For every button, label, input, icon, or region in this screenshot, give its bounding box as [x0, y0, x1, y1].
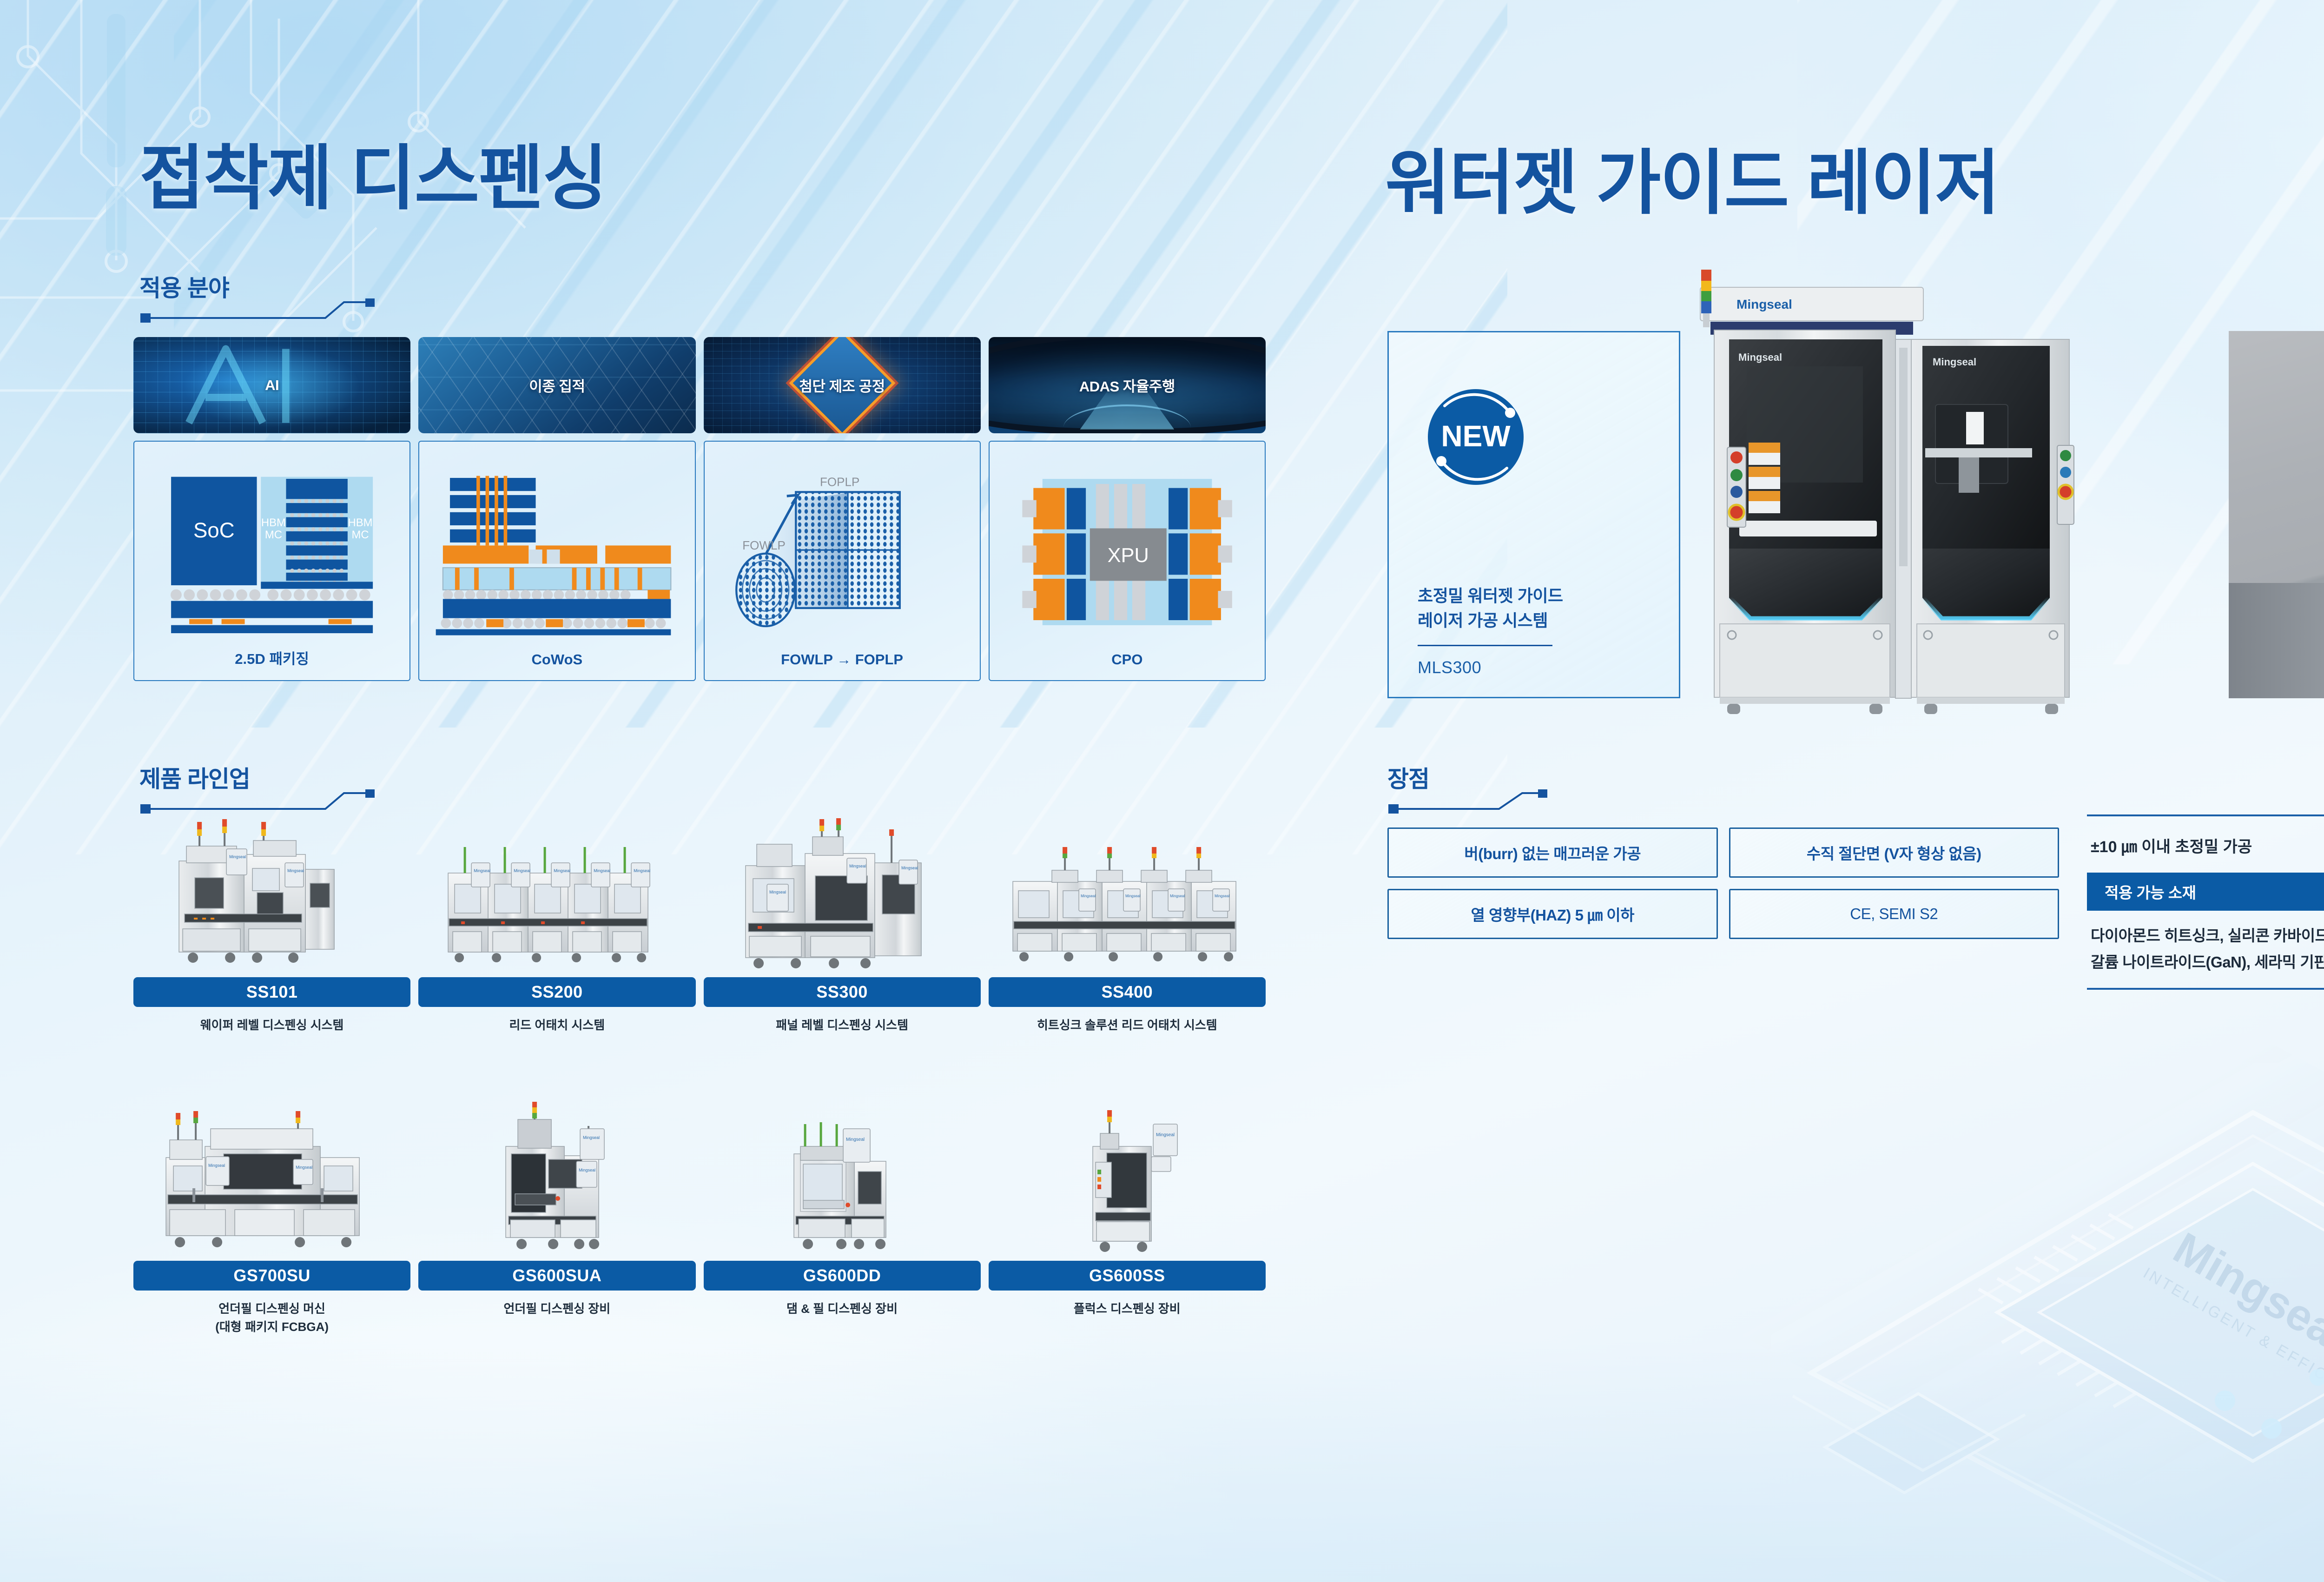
product-model-badge[interactable]: SS300: [704, 977, 981, 1007]
application-card[interactable]: 첨단 제조 공정 FOPLP: [704, 337, 981, 681]
application-photo-label: 첨단 제조 공정: [799, 375, 885, 396]
diagram-label-soc: SoC: [193, 518, 235, 542]
application-photo-ai: AI: [133, 337, 410, 433]
new-badge: NEW: [1418, 379, 1534, 495]
product-description: 웨이퍼 레벨 디스펜싱 시스템: [200, 1016, 344, 1034]
subheader-product-lineup: 제품 라인업: [139, 761, 250, 794]
svg-text:Mingseal: Mingseal: [514, 868, 530, 873]
svg-text:Mingseal: Mingseal: [579, 1168, 595, 1172]
new-badge-label: NEW: [1441, 419, 1511, 453]
product-description-line1: 언더필 디스펜싱 머신: [215, 1300, 329, 1318]
svg-text:Mingseal: Mingseal: [296, 1165, 312, 1170]
spec-materials-line2: 갈륨 나이트라이드(GaN), 세라믹 기판, 액체 금속 등: [2091, 949, 2324, 976]
machine-illustration: MingsealMingseal: [133, 1102, 410, 1255]
section-title-adhesive-dispensing: 접착제 디스펜싱: [139, 121, 607, 223]
application-photo-label: AI: [265, 377, 279, 394]
subheader-application-field: 적용 분야: [139, 270, 229, 303]
product-lineup-row-1: MingsealMingseal SS101 웨이퍼 레벨 디스펜싱 시스템: [133, 818, 1266, 1060]
diagram-label-foplp: FOPLP: [820, 475, 859, 489]
svg-text:Mingseal: Mingseal: [846, 1137, 865, 1142]
diagram-label-fowlp: FOWLP: [742, 538, 786, 552]
diagram-label-xpu: XPU: [1107, 544, 1149, 567]
machine-illustration: MingsealMingsealMingsealMingseal: [989, 818, 1266, 972]
product-description: 플럭스 디스펜싱 장비: [1074, 1300, 1181, 1318]
application-photo-label: 이종 집적: [529, 375, 585, 396]
product-model-badge[interactable]: SS101: [133, 977, 410, 1007]
svg-text:Mingseal: Mingseal: [208, 1163, 225, 1168]
machine-illustration: Mingseal: [989, 1102, 1266, 1255]
svg-text:Mingseal: Mingseal: [849, 864, 866, 868]
merit-box-certification: CE, SEMI S2: [1729, 889, 2060, 939]
product-photo-ss101: MingsealMingseal: [133, 818, 410, 972]
subheader-trace-decoration: [1387, 786, 1629, 814]
product-card[interactable]: MingsealMingsealMingseal MingsealMingsea…: [418, 818, 695, 1060]
application-photo-hetero-integration: 이종 집적: [418, 337, 695, 433]
svg-text:Mingseal: Mingseal: [1170, 894, 1185, 898]
product-lineup-row-2: MingsealMingseal GS700SU 언더필 디스펜싱 머신 (대형…: [133, 1102, 1266, 1344]
diagram-soc-hbm-stack: SoC: [141, 453, 403, 647]
diagram-label-hbm-right-line2: MC: [351, 529, 369, 541]
svg-text:Mingseal: Mingseal: [594, 868, 610, 873]
svg-text:Mingseal: Mingseal: [1215, 894, 1229, 898]
diagram-wafer-to-panel: FOPLP FOWLP: [711, 453, 973, 651]
machine-brand-label-inner-right: Mingseal: [1933, 356, 1976, 368]
new-product-panel: NEW 초정밀 워터젯 가이드 레이저 가공 시스템 MLS300: [1387, 331, 1680, 698]
spec-precision-text: ±10 ㎛ 이내 초정밀 가공: [2087, 816, 2324, 873]
application-diagram-cowos: CoWoS: [418, 441, 695, 681]
application-diagram-cpo: XPU CPO: [989, 441, 1266, 681]
product-photo-ss300: MingsealMingsealMingseal: [704, 818, 981, 972]
product-photo-gs600dd: Mingseal: [704, 1102, 981, 1255]
subheader-trace-decoration: [139, 786, 381, 814]
machine-brand-label-inner: Mingseal: [1738, 351, 1782, 363]
laser-principle-diagram-panel: 레이저 빔 초점 렌즈 보호 유리 물 노즐 가공물 에너지 결합 빔: [2229, 331, 2324, 698]
diagram-cowos-stack: [426, 453, 688, 651]
product-card[interactable]: Mingseal GS600DD 댐 & 필 디스펜싱 장비: [704, 1102, 981, 1344]
application-field-card-grid: AI SoC: [133, 337, 1266, 681]
new-product-title-line2: 레이저 가공 시스템: [1418, 608, 1563, 633]
application-card[interactable]: 이종 집적: [418, 337, 695, 681]
product-model-badge[interactable]: GS600SS: [989, 1261, 1266, 1291]
new-product-title: 초정밀 워터젯 가이드 레이저 가공 시스템: [1418, 583, 1563, 633]
spec-divider-bottom: [2087, 988, 2324, 990]
svg-text:Mingseal: Mingseal: [1156, 1132, 1175, 1138]
merit-box-vertical-cut: 수직 절단면 (V자 형상 없음): [1729, 827, 2060, 878]
product-model-badge[interactable]: GS600SUA: [418, 1261, 695, 1291]
product-card[interactable]: MingsealMingsealMingseal SS300 패널 레벨 디스펜…: [704, 818, 981, 1060]
svg-text:Mingseal: Mingseal: [634, 868, 650, 873]
product-description-line2: (대형 패키지 FCBGA): [215, 1318, 329, 1336]
machine-illustration-mls300: Mingseal Mingseal MLS-300: [1641, 270, 2133, 716]
product-description: 히트싱크 솔루션 리드 어태치 시스템: [1037, 1016, 1217, 1034]
machine-illustration: MingsealMingsealMingseal: [704, 818, 981, 972]
product-description: 패널 레벨 디스펜싱 시스템: [776, 1016, 908, 1034]
specification-panel: ±10 ㎛ 이내 초정밀 가공 적용 가능 소재 다이아몬드 히트싱크, 실리콘…: [2087, 814, 2324, 990]
application-photo-advanced-process: 첨단 제조 공정: [704, 337, 981, 433]
product-card[interactable]: Mingseal GS600SS 플럭스 디스펜싱 장비: [989, 1102, 1266, 1344]
machine-illustration: MingsealMingsealMingseal MingsealMingsea…: [418, 818, 695, 972]
subheader-trace-decoration: [139, 295, 381, 324]
product-description: 리드 어태치 시스템: [509, 1016, 605, 1034]
machine-brand-label: Mingseal: [1736, 297, 1792, 311]
divider-rule: [1418, 645, 1552, 646]
application-card[interactable]: AI SoC: [133, 337, 410, 681]
diagram-label-hbm-left-line2: MC: [265, 529, 282, 541]
mls300-machine-photo: Mingseal Mingseal MLS-300: [1641, 270, 2133, 716]
diagram-label-hbm-left-line1: HBM: [261, 516, 286, 529]
product-model-badge[interactable]: SS400: [989, 977, 1266, 1007]
diagram-cpo-xpu: XPU: [996, 453, 1258, 651]
machine-illustration: Mingseal: [704, 1102, 981, 1255]
application-diagram-caption: CoWoS: [532, 651, 583, 680]
svg-text:Mingseal: Mingseal: [583, 1135, 600, 1140]
product-photo-gs600ss: Mingseal: [989, 1102, 1266, 1255]
product-card[interactable]: MingsealMingseal GS700SU 언더필 디스펜싱 머신 (대형…: [133, 1102, 410, 1344]
merit-box-haz: 열 영향부(HAZ) 5 ㎛ 이하: [1387, 889, 1718, 939]
application-diagram-2-5d: SoC: [133, 441, 410, 681]
section-title-waterjet-guided-laser: 워터젯 가이드 레이저: [1385, 126, 1999, 228]
svg-text:Mingseal: Mingseal: [1081, 894, 1096, 898]
product-model-badge[interactable]: SS200: [418, 977, 695, 1007]
product-model-badge[interactable]: GS700SU: [133, 1261, 410, 1291]
application-photo-adas: ADAS 자율주행: [989, 337, 1266, 433]
product-description: 언더필 디스펜싱 머신 (대형 패키지 FCBGA): [215, 1300, 329, 1336]
svg-text:Mingseal: Mingseal: [554, 868, 570, 873]
laser-principle-diagram: 레이저 빔 초점 렌즈 보호 유리 물 노즐 가공물 에너지 결합 빔: [2229, 331, 2324, 698]
svg-text:Mingseal: Mingseal: [769, 890, 786, 894]
svg-text:Mingseal: Mingseal: [287, 868, 304, 873]
application-photo-label: ADAS 자율주행: [1079, 375, 1175, 396]
product-model-badge[interactable]: GS600DD: [704, 1261, 981, 1291]
application-diagram-fowlp-foplp: FOPLP FOWLP F: [704, 441, 981, 681]
application-diagram-caption: CPO: [1111, 651, 1142, 680]
product-photo-ss200: MingsealMingsealMingseal MingsealMingsea…: [418, 818, 695, 972]
product-description: 언더필 디스펜싱 장비: [504, 1300, 611, 1318]
product-card[interactable]: MingsealMingseal GS600SUA 언더필 디스펜싱 장비: [418, 1102, 695, 1344]
merit-box-burr-free: 버(burr) 없는 매끄러운 가공: [1387, 827, 1718, 878]
application-diagram-caption: FOWLP → FOPLP: [781, 651, 903, 680]
product-card[interactable]: MingsealMingsealMingsealMingseal SS400 히…: [989, 818, 1266, 1060]
new-product-model: MLS300: [1418, 658, 1481, 677]
machine-illustration: MingsealMingseal: [133, 818, 410, 972]
product-photo-ss400: MingsealMingsealMingsealMingseal: [989, 818, 1266, 972]
new-product-title-line1: 초정밀 워터젯 가이드: [1418, 583, 1563, 608]
spec-materials-line1: 다이아몬드 히트싱크, 실리콘 카바이드(SiC),: [2091, 923, 2324, 949]
product-photo-gs700su: MingsealMingseal: [133, 1102, 410, 1255]
machine-illustration: MingsealMingseal: [418, 1102, 695, 1255]
product-card[interactable]: MingsealMingseal SS101 웨이퍼 레벨 디스펜싱 시스템: [133, 818, 410, 1060]
svg-text:Mingseal: Mingseal: [901, 866, 918, 870]
spec-materials-body: 다이아몬드 히트싱크, 실리콘 카바이드(SiC), 갈륨 나이트라이드(GaN…: [2087, 911, 2324, 988]
svg-text:Mingseal: Mingseal: [474, 868, 490, 873]
svg-text:Mingseal: Mingseal: [1125, 894, 1140, 898]
subheader-merits: 장점: [1387, 761, 1429, 794]
application-diagram-caption: 2.5D 패키징: [235, 647, 309, 680]
diagram-label-hbm-right-line1: HBM: [348, 516, 373, 529]
spec-materials-header: 적용 가능 소재: [2087, 873, 2324, 911]
merit-box-grid: 버(burr) 없는 매끄러운 가공 수직 절단면 (V자 형상 없음) 열 영…: [1387, 827, 2059, 939]
product-photo-gs600sua: MingsealMingseal: [418, 1102, 695, 1255]
application-card[interactable]: ADAS 자율주행: [989, 337, 1266, 681]
svg-text:Mingseal: Mingseal: [229, 854, 246, 859]
product-description: 댐 & 필 디스펜싱 장비: [786, 1300, 898, 1318]
